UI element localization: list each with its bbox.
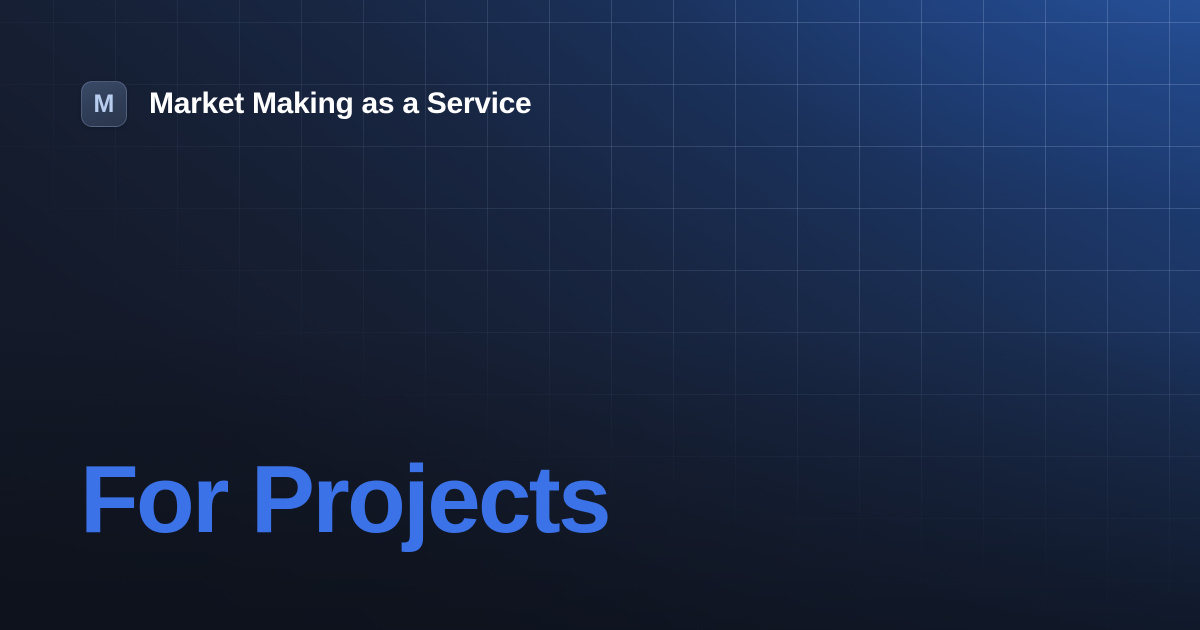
brand-title: Market Making as a Service xyxy=(149,89,531,119)
og-share-card: M Market Making as a Service For Project… xyxy=(0,0,1200,630)
page-title: For Projects xyxy=(80,452,609,548)
brand-row: M Market Making as a Service xyxy=(81,81,531,127)
brand-monogram-icon: M xyxy=(81,81,127,127)
brand-monogram-letter: M xyxy=(93,92,114,117)
